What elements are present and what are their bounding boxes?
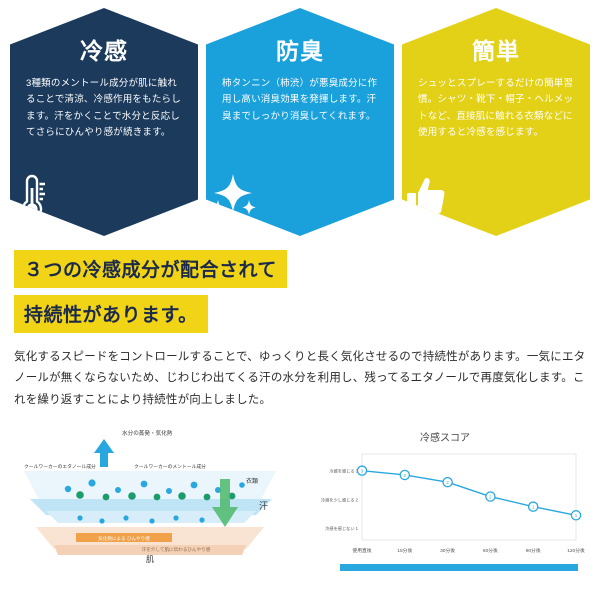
- svg-text:汗を介して肌に伝わるひんやり感: 汗を介して肌に伝わるひんやり感: [142, 546, 211, 553]
- sparkle-icon: [206, 170, 394, 222]
- headline-block: ３つの冷感成分が配合されて 持続性があります。: [14, 250, 600, 333]
- card-title: 防臭: [222, 32, 378, 66]
- svg-text:90分後: 90分後: [526, 547, 541, 554]
- svg-text:60分後: 60分後: [483, 547, 498, 554]
- svg-text:120分後: 120分後: [567, 547, 585, 554]
- svg-text:30分後: 30分後: [440, 547, 455, 554]
- chart-gradient-bar: [340, 564, 578, 571]
- card-body: 3種類のメントール成分が肌に触れることで清涼、冷感作用をもたらします。汗をかくこ…: [26, 76, 182, 141]
- hex-shape-deodorant: 防臭 柿タンニン（柿渋）が悪臭成分に作用し高い消臭効果を発揮します。汗臭までしっ…: [206, 8, 394, 236]
- svg-text:肌: 肌: [146, 555, 154, 563]
- card-title: 冷感: [26, 32, 182, 66]
- feature-card-row: 冷感 3種類のメントール成分が肌に触れることで清涼、冷感作用をもたらします。汗を…: [0, 0, 600, 236]
- feature-card-cooling: 冷感 3種類のメントール成分が肌に触れることで清涼、冷感作用をもたらします。汗を…: [10, 8, 198, 236]
- svg-text:冷感を感じない 1: 冷感を感じない 1: [325, 525, 358, 532]
- svg-text:使用直後: 使用直後: [352, 547, 371, 554]
- thermometer-icon: [10, 170, 198, 222]
- svg-text:汗: 汗: [259, 500, 268, 511]
- evaporation-diagram: 気化熱による ひんやり感 水分の蒸発・気化熱: [6, 423, 294, 571]
- headline-line-2: 持続性があります。: [14, 295, 208, 333]
- feature-card-deodorant: 防臭 柿タンニン（柿渋）が悪臭成分に作用し高い消臭効果を発揮します。汗臭までしっ…: [206, 8, 394, 236]
- svg-text:気化熱による ひんやり感: 気化熱による ひんやり感: [98, 535, 150, 542]
- hex-shape-easy: 簡単 シュッとスプレーするだけの簡単習慣。シャツ・靴下・帽子・ヘルメットなど、直…: [402, 8, 590, 236]
- feature-card-easy: 簡単 シュッとスプレーするだけの簡単習慣。シャツ・靴下・帽子・ヘルメットなど、直…: [402, 8, 590, 236]
- svg-text:クールワーカーのエタノール成分: クールワーカーのエタノール成分: [24, 463, 96, 470]
- svg-text:クールワーカーのメントール成分: クールワーカーのメントール成分: [134, 463, 206, 470]
- cooling-score-chart: 冷感スコア 冷感を感じる 3冷感を少し感じる 2冷感を感じない 1322211使…: [294, 423, 590, 571]
- svg-text:冷感を少し感じる 2: 冷感を少し感じる 2: [321, 496, 359, 503]
- thumbs-up-icon: [402, 172, 590, 222]
- bottom-section: 気化熱による ひんやり感 水分の蒸発・気化熱: [0, 423, 600, 571]
- hex-shape-cooling: 冷感 3種類のメントール成分が肌に触れることで清涼、冷感作用をもたらします。汗を…: [10, 8, 198, 236]
- card-body: シュッとスプレーするだけの簡単習慣。シャツ・靴下・帽子・ヘルメットなど、直接肌に…: [418, 76, 574, 141]
- chart-title: 冷感スコア: [300, 429, 590, 444]
- svg-text:15分後: 15分後: [397, 547, 412, 554]
- svg-text:冷感を感じる 3: 冷感を感じる 3: [329, 467, 358, 474]
- card-body: 柿タンニン（柿渋）が悪臭成分に作用し高い消臭効果を発揮します。汗臭までしっかり消…: [222, 76, 378, 125]
- card-title: 簡単: [418, 32, 574, 66]
- svg-text:衣類: 衣類: [246, 477, 258, 485]
- svg-text:水分の蒸発・気化熱: 水分の蒸発・気化熱: [122, 429, 173, 437]
- body-paragraph: 気化するスピードをコントロールすることで、ゆっくりと長く気化させるので持続性があ…: [14, 347, 586, 411]
- headline-line-1: ３つの冷感成分が配合されて: [14, 250, 287, 288]
